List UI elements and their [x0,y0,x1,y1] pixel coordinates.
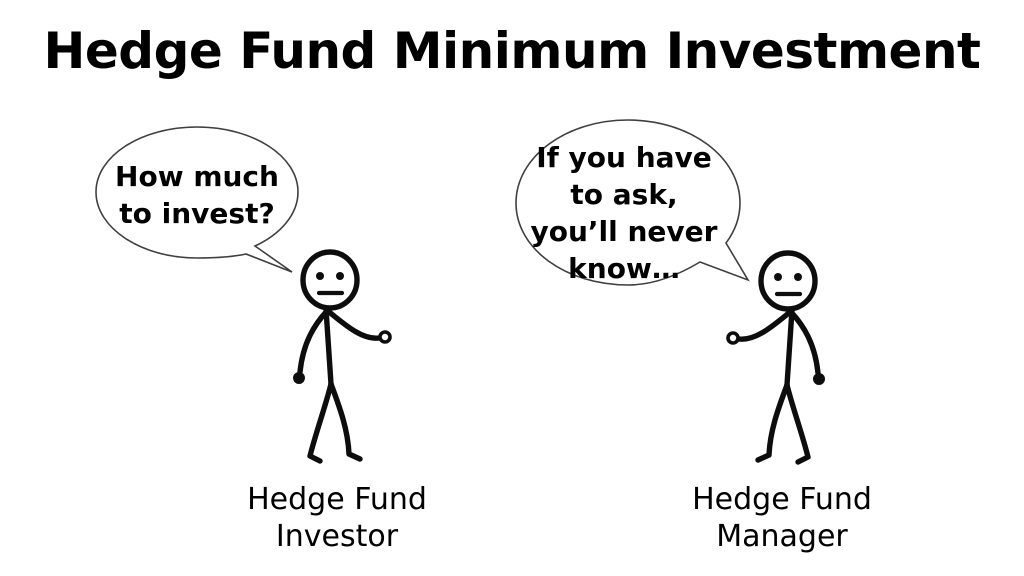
right-figure-leg-right [787,385,808,462]
right-figure-eye-left [774,273,782,281]
left-figure-eye-right [336,272,344,280]
right-figure-arm-out [739,312,790,339]
left-speech-bubble: How much to invest? [96,127,298,272]
left-figure-eye-left [316,272,324,280]
right-bubble-line-2: to ask, [570,178,677,211]
right-caption: Hedge Fund Manager [692,482,872,554]
right-stick-figure [728,253,825,462]
left-figure-arm-out [328,311,379,338]
right-caption-line-1: Hedge Fund [692,482,872,517]
right-figure-hand-ring [728,333,738,343]
left-figure-hand-dot [293,372,305,384]
right-caption-line-2: Manager [716,519,848,554]
left-bubble-line-1: How much [115,160,279,193]
right-bubble-line-1: If you have [536,141,712,174]
left-figure-head [303,252,357,308]
right-figure-leg-left [758,385,787,460]
right-bubble-line-3: you’ll never [531,215,718,248]
left-bubble-line-2: to invest? [119,197,274,230]
left-stick-figure [293,252,390,461]
page-title: Hedge Fund Minimum Investment [44,22,981,80]
right-figure-arm-down [791,312,818,373]
right-bubble-line-4: know… [568,252,680,285]
left-figure-leg-left [310,384,331,461]
slide-canvas: Hedge Fund Minimum Investment How much t… [0,0,1024,576]
left-figure-hand-ring [380,332,390,342]
right-speech-bubble: If you have to ask, you’ll never know… [516,120,748,285]
left-caption-line-1: Hedge Fund [247,482,427,517]
right-figure-torso [787,310,792,385]
right-figure-eye-right [794,273,802,281]
left-figure-arm-down [300,311,327,372]
right-figure-hand-dot [813,373,825,385]
cartoon-illustration: Hedge Fund Minimum Investment How much t… [0,0,1024,576]
left-caption-line-2: Investor [276,519,399,554]
left-figure-leg-right [331,384,360,459]
left-caption: Hedge Fund Investor [247,482,427,554]
right-figure-head [761,253,815,309]
left-figure-torso [326,309,331,384]
